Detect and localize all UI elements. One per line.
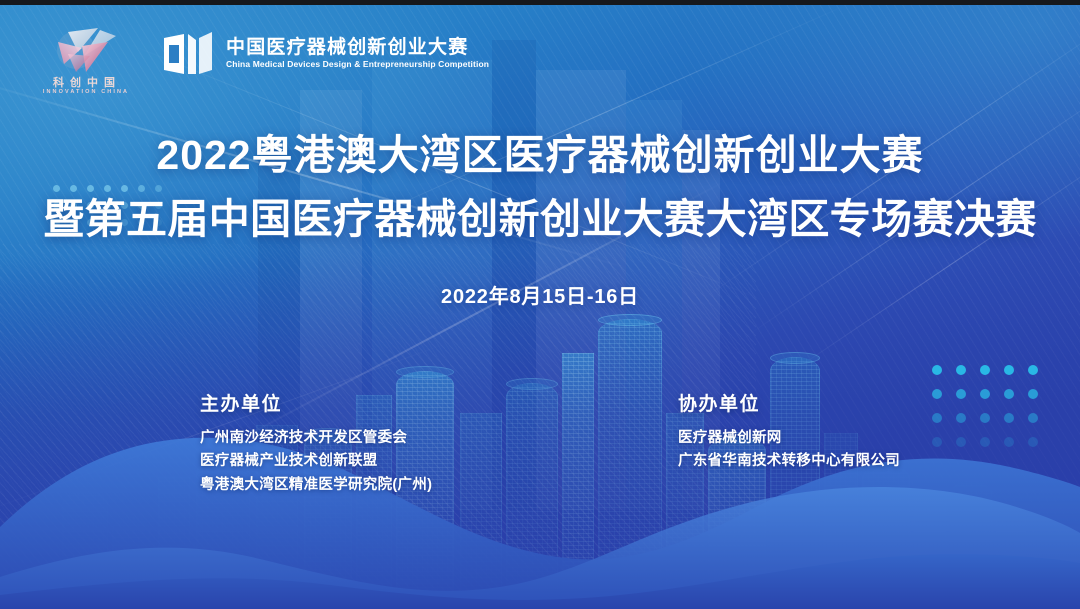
coorganizer-item: 广东省华南技术转移中心有限公司 — [678, 450, 900, 473]
innovation-china-logo: 科创中国 INNOVATION CHINA — [38, 26, 134, 98]
competition-name-en: China Medical Devices Design & Entrepren… — [226, 59, 489, 71]
innovation-china-bird-mark — [38, 26, 134, 76]
coorganizer-heading: 协办单位 — [678, 389, 900, 416]
host-organizer-heading: 主办单位 — [200, 389, 432, 416]
dot-grid-right — [925, 358, 1045, 454]
page-title-line1: 2022粤港澳大湾区医疗器械创新创业大赛 — [0, 130, 1080, 180]
coorganizer-item: 医疗器械创新网 — [678, 427, 900, 450]
host-organizer-block: 主办单位 广州南沙经济技术开发区管委会 医疗器械产业技术创新联盟 粤港澳大湾区精… — [200, 389, 432, 497]
event-date: 2022年8月15日-16日 — [0, 280, 1080, 309]
page-title-line2: 暨第五届中国医疗器械创新创业大赛大湾区专场赛决赛 — [0, 194, 1080, 244]
rolling-wave-hills — [0, 409, 1080, 609]
competition-logo: 中国医疗器械创新创业大赛 China Medical Devices Desig… — [162, 32, 489, 76]
innovation-china-zh: 科创中国 — [44, 78, 130, 89]
innovation-china-en: INNOVATION CHINA — [38, 90, 134, 96]
competition-name-zh: 中国医疗器械创新创业大赛 — [226, 37, 489, 59]
event-poster: 科创中国 INNOVATION CHINA 中国医疗器械创新创业大赛 China… — [0, 0, 1080, 609]
logo-bar: 科创中国 INNOVATION CHINA 中国医疗器械创新创业大赛 China… — [38, 26, 489, 98]
title-block: 2022粤港澳大湾区医疗器械创新创业大赛 暨第五届中国医疗器械创新创业大赛大湾区… — [0, 130, 1080, 309]
top-dark-strip — [0, 0, 1080, 5]
open-door-mark — [162, 32, 214, 76]
coorganizer-block: 协办单位 医疗器械创新网 广东省华南技术转移中心有限公司 — [678, 389, 900, 474]
competition-logo-text: 中国医疗器械创新创业大赛 China Medical Devices Desig… — [226, 37, 489, 72]
host-organizer-item: 粤港澳大湾区精准医学研究院(广州) — [200, 474, 432, 497]
host-organizer-item: 医疗器械产业技术创新联盟 — [200, 450, 432, 473]
host-organizer-item: 广州南沙经济技术开发区管委会 — [200, 427, 432, 450]
